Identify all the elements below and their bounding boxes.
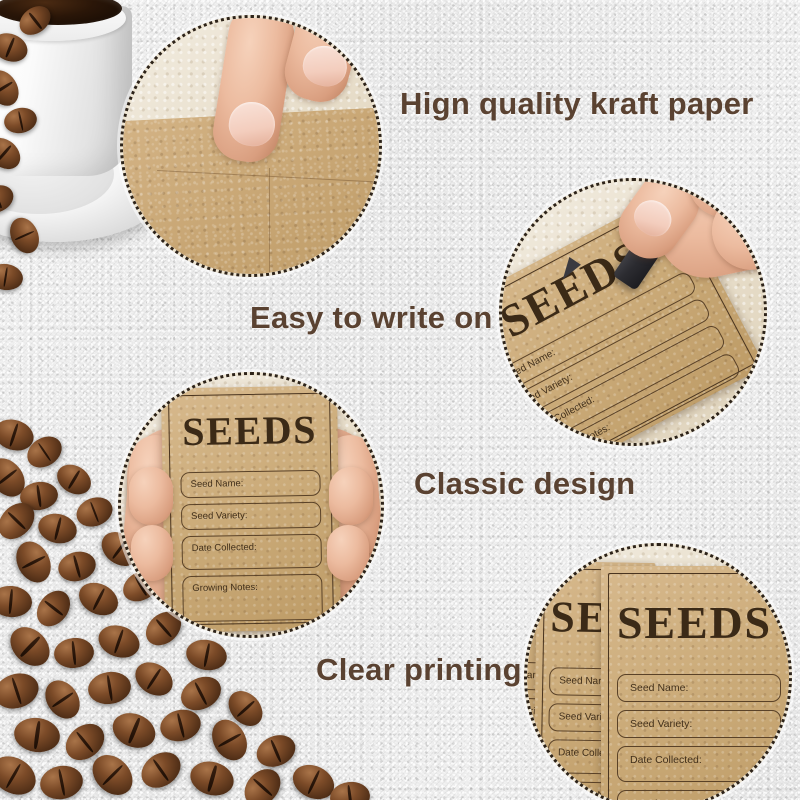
coffee-liquid [0,0,122,25]
packet-field-seed-variety: Seed Variety: [617,710,781,738]
packet-field-seed-name: Seed Name: [617,674,781,702]
feature-circle-clear-printing: SEEDS Seed Name: Seed Variety: Date Coll… [524,543,792,800]
packet-field-seed-name: Seed Name: [180,470,320,498]
caption-classic-design: Classic design [414,466,635,502]
cup-icon [0,6,132,176]
caption-easy-to-write-on: Easy to write on [250,300,493,336]
packet-field-date-collected: Date Collected: [617,746,781,782]
circle-1-scene [123,18,379,274]
fingertip-right [329,467,373,525]
circle-4-scene: SEEDS Seed Name: Seed Variety: Date Coll… [527,546,789,800]
packet-field-growing-notes: Growing Notes: [617,790,781,800]
fingertip-left [129,467,173,525]
infographic-canvas: SEEDS Seed Name: Seed Variety: Date Coll… [0,0,800,800]
circle-2-scene: SEEDS Seed Name: Seed Variety: Date Coll… [502,181,764,443]
feature-circle-easy-to-write-on: SEEDS Seed Name: Seed Variety: Date Coll… [499,178,767,446]
packet-field-seed-variety: Seed Variety: [181,502,321,530]
caption-high-quality-kraft-paper: Hign quality kraft paper [400,86,754,122]
kraft-sheet-crease-vertical [269,168,270,274]
fingertip-left-lower [131,525,173,581]
seed-packet-single: SEEDS Seed Name: Seed Variety: Date Coll… [161,385,341,632]
circle-3-scene: SEEDS Seed Name: Seed Variety: Date Coll… [121,375,381,635]
feature-circle-classic-design: SEEDS Seed Name: Seed Variety: Date Coll… [118,372,384,638]
packet-title-seeds: SEEDS [161,409,338,452]
seed-packet-stack-front: SEEDS Seed Name: Seed Variety: Date Coll… [601,566,789,800]
packet-title-seeds: SEEDS [601,600,789,646]
caption-clear-printing: Clear printing [316,652,522,688]
packet-field-date-collected: Date Collected: [181,534,322,570]
fingertip-right-lower [327,525,369,581]
packet-field-growing-notes: Growing Notes: [182,574,323,622]
feature-circle-high-quality-kraft-paper [120,15,382,277]
